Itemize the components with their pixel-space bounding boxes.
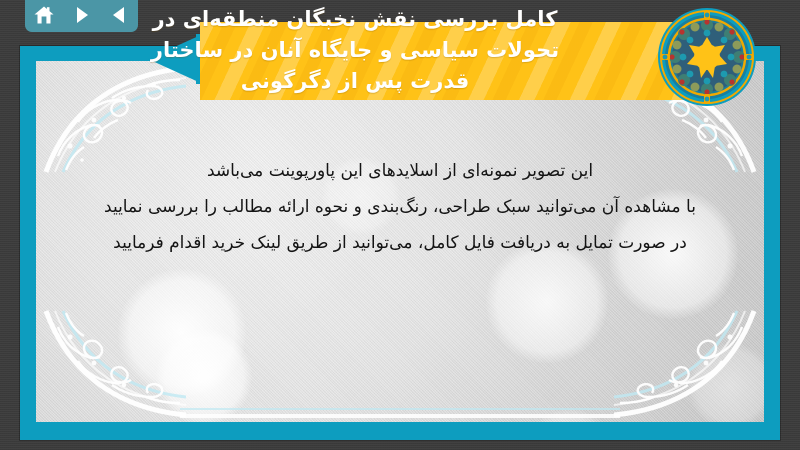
bokeh-circle [524,409,616,422]
home-icon [33,5,55,25]
body-line: در صورت تمایل به دریافت فایل کامل، می‌تو… [76,225,724,261]
bokeh-circle [688,343,764,422]
body-line: این تصویر نمونه‌ای از اسلایدهای این پاور… [76,153,724,189]
bokeh-circle [118,269,246,397]
slide-body-text: این تصویر نمونه‌ای از اسلایدهای این پاور… [76,153,724,261]
slide-viewer: این تصویر نمونه‌ای از اسلایدهای این پاور… [0,0,800,450]
triangle-left-icon [109,5,129,25]
triangle-right-icon [72,5,92,25]
body-line: با مشاهده آن می‌توانید سبک طراحی، رنگ‌بن… [76,189,724,225]
next-slide-button[interactable] [68,2,96,28]
navigation-toolbar [25,0,138,32]
bokeh-circle [156,329,252,422]
previous-slide-button[interactable] [105,2,133,28]
slide-canvas: این تصویر نمونه‌ای از اسلایدهای این پاور… [36,61,764,422]
presentation-slide: این تصویر نمونه‌ای از اسلایدهای این پاور… [20,46,780,440]
home-button[interactable] [30,2,58,28]
